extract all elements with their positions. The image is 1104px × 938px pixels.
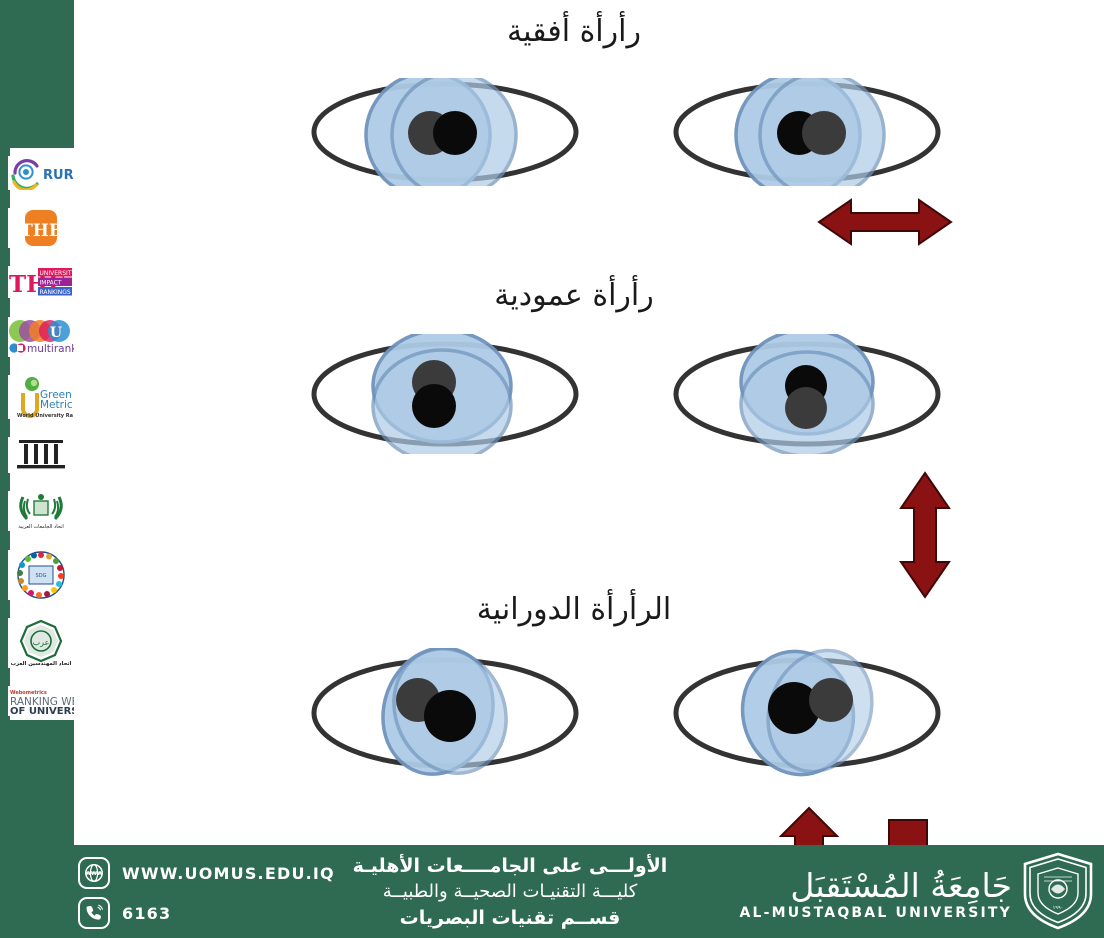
svg-text:multirank: multirank [27, 343, 74, 355]
arab-universities-union-logo: اتحاد الجامعات العربية [8, 491, 74, 531]
university-name-group: جَامِعَةُ المُسْتَقبَل AL-MUSTAQBAL UNIV… [739, 865, 1012, 921]
webometrics-ranking-logo: Webometrics RANKING WEB OF UNIVERSITIES [8, 686, 74, 716]
rur-ranking-logo: RUR [8, 156, 74, 190]
svg-text:WWW: WWW [85, 871, 103, 877]
the-ranking-logo: THE [8, 208, 74, 248]
section-title-horizontal: رأرأة أفقية [244, 14, 904, 49]
slide-root: RUR THE THE UNIVERSITY IMPACT RANKINGS [0, 0, 1104, 938]
footer-tagline-line3: قســم تقنيات البصريات [300, 905, 720, 931]
phone-icon [78, 897, 110, 929]
svg-text:اتحاد المهندسين العرب: اتحاد المهندسين العرب [11, 661, 72, 667]
footer-university-block: جَامِعَةُ المُسْتَقبَل AL-MUSTAQBAL UNIV… [739, 851, 1096, 935]
pillars-accreditation-logo [8, 437, 74, 473]
svg-text:U: U [50, 325, 62, 341]
svg-text:عرب: عرب [33, 638, 50, 647]
section-title-vertical: رأرأة عمودية [244, 278, 904, 313]
svg-text:World University Rankings: World University Rankings [17, 413, 73, 419]
university-crest-icon: ١٩٩٠ [1020, 851, 1096, 935]
university-name-english: AL-MUSTAQBAL UNIVERSITY [739, 905, 1012, 921]
svg-text:UNIVERSITY: UNIVERSITY [40, 270, 75, 277]
eye-horizontal-right [672, 78, 942, 186]
footer-tagline-block: الأولـــى على الجامــــعات الأهليـة كليـ… [300, 853, 720, 931]
accreditation-badge-list: RUR THE THE UNIVERSITY IMPACT RANKINGS [6, 152, 76, 722]
footer-tagline-line2: كليـــة التقنيـات الصحيــة والطبيــة [300, 879, 720, 905]
svg-text:OF UNIVERSITIES: OF UNIVERSITIES [10, 706, 74, 716]
ui-greenmetric-logo: Green Metric World University Rankings [8, 375, 74, 419]
sdg-goals-logo: SDG [8, 550, 74, 600]
eye-rotational-right [672, 648, 942, 778]
footer-phone-text: 6163 [122, 904, 171, 923]
section-title-rotational: الرأرأة الدورانية [244, 592, 904, 627]
svg-text:RANKINGS: RANKINGS [40, 289, 71, 296]
eye-vertical-left [310, 334, 580, 454]
university-name-arabic: جَامِعَةُ المُسْتَقبَل [739, 865, 1012, 907]
eye-horizontal-left [310, 78, 580, 186]
federation-arab-engineers-logo: عرب اتحاد المهندسين العرب [8, 618, 74, 668]
arrow-horizontal-right [746, 196, 1104, 248]
u-multirank-logo: U multirank [8, 317, 74, 357]
footer-website-line[interactable]: WWW WWW.UOMUS.EDU.IQ [78, 857, 335, 889]
globe-www-icon: WWW [78, 857, 110, 889]
svg-text:Metric: Metric [40, 399, 73, 411]
footer-contact-block: WWW WWW.UOMUS.EDU.IQ 6163 [78, 857, 335, 929]
arrow-vertical-right [776, 470, 1104, 600]
eye-vertical-right [672, 334, 942, 454]
eye-rotational-left [310, 648, 580, 778]
footer-phone-line[interactable]: 6163 [78, 897, 335, 929]
svg-text:THE: THE [20, 221, 62, 241]
svg-text:RUR: RUR [43, 168, 73, 183]
svg-text:IMPACT: IMPACT [40, 280, 62, 287]
footer-tagline-line1: الأولـــى على الجامــــعات الأهليـة [300, 853, 720, 879]
slide-content: رأرأة أفقية رأرأة عمودية [74, 0, 1104, 845]
svg-text:١٩٩٠: ١٩٩٠ [1053, 905, 1064, 911]
svg-text:اتحاد الجامعات العربية: اتحاد الجامعات العربية [18, 524, 64, 530]
slide-footer: WWW WWW.UOMUS.EDU.IQ 6163 الأولـــى على … [0, 845, 1104, 938]
the-impact-rankings-logo: THE UNIVERSITY IMPACT RANKINGS [8, 266, 74, 298]
svg-text:SDG: SDG [36, 573, 47, 579]
